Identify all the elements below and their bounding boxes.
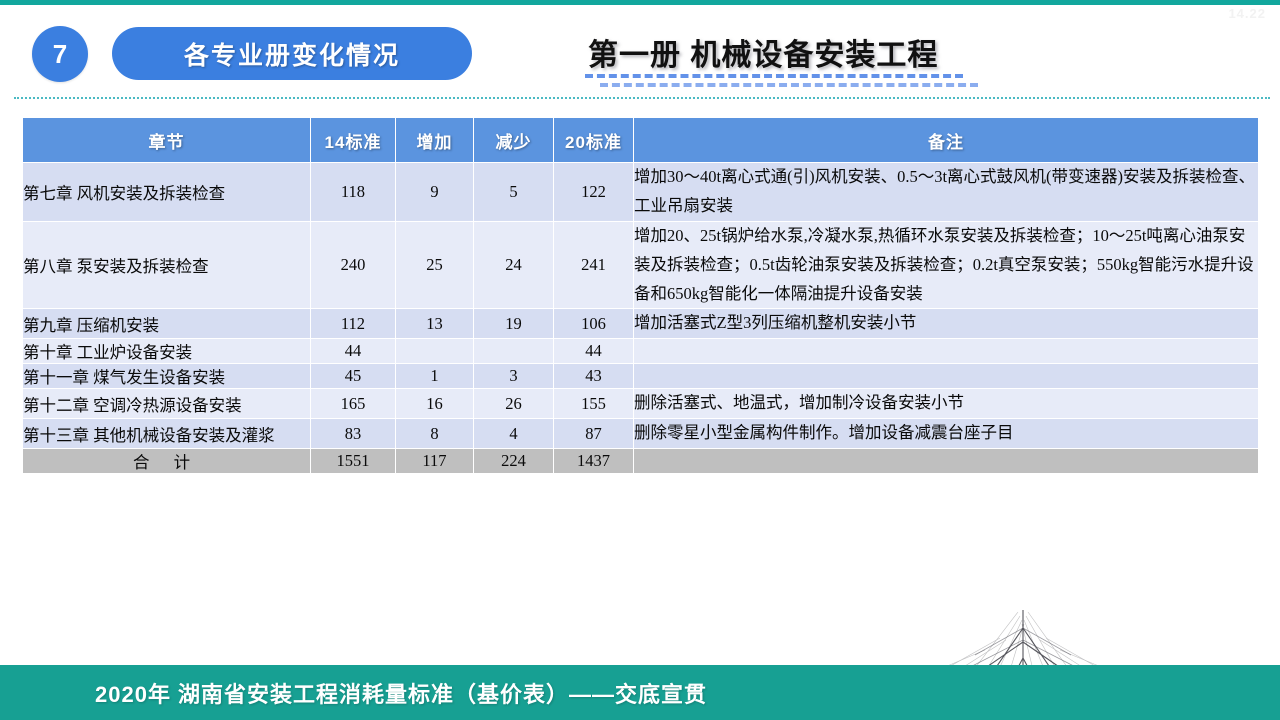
table-row: 第七章 风机安装及拆装检查 118 9 5 122 增加30～40t离心式通(引… — [23, 163, 1259, 222]
section-number-badge: 7 — [32, 26, 88, 82]
cell-std20: 87 — [554, 419, 634, 449]
column-header-note: 备注 — [634, 118, 1259, 163]
cell-total-std14: 1551 — [311, 449, 396, 474]
cell-std14: 165 — [311, 389, 396, 419]
cell-removed: 4 — [474, 419, 554, 449]
cell-std20: 106 — [554, 309, 634, 339]
cell-removed: 3 — [474, 364, 554, 389]
table-header-row: 章节 14标准 增加 减少 20标准 备注 — [23, 118, 1259, 163]
cell-note — [634, 364, 1259, 389]
table-row: 第十一章 煤气发生设备安装 45 1 3 43 — [23, 364, 1259, 389]
column-header-chapter: 章节 — [23, 118, 311, 163]
cell-chapter: 第十二章 空调冷热源设备安装 — [23, 389, 311, 419]
cell-total-added: 117 — [396, 449, 474, 474]
table-body: 第七章 风机安装及拆装检查 118 9 5 122 增加30～40t离心式通(引… — [23, 163, 1259, 474]
section-title-pill: 各专业册变化情况 — [112, 27, 472, 80]
cell-added: 1 — [396, 364, 474, 389]
cell-std14: 44 — [311, 339, 396, 364]
cell-std14: 118 — [311, 163, 396, 222]
chapter-change-table: 章节 14标准 增加 减少 20标准 备注 第七章 风机安装及拆装检查 118 … — [22, 117, 1259, 474]
cell-total-note — [634, 449, 1259, 474]
title-dash-line-lower — [600, 83, 978, 87]
cell-std20: 155 — [554, 389, 634, 419]
page-number-watermark: 14.22 — [1228, 6, 1266, 21]
column-header-removed: 减少 — [474, 118, 554, 163]
cell-note: 增加活塞式Z型3列压缩机整机安装小节 — [634, 309, 1259, 339]
cell-removed — [474, 339, 554, 364]
title-dash-line-upper — [585, 74, 963, 78]
cell-std14: 240 — [311, 221, 396, 309]
cell-total-removed: 224 — [474, 449, 554, 474]
slide-root: 14.22 7 各专业册变化情况 第一册 机械设备安装工程 章节 14标准 增加… — [0, 0, 1280, 720]
cell-std14: 112 — [311, 309, 396, 339]
table-row: 第十章 工业炉设备安装 44 44 — [23, 339, 1259, 364]
cell-std14: 45 — [311, 364, 396, 389]
table-row: 第九章 压缩机安装 112 13 19 106 增加活塞式Z型3列压缩机整机安装… — [23, 309, 1259, 339]
cell-removed: 24 — [474, 221, 554, 309]
cell-std20: 122 — [554, 163, 634, 222]
cell-chapter: 第八章 泵安装及拆装检查 — [23, 221, 311, 309]
cell-chapter: 第十三章 其他机械设备安装及灌浆 — [23, 419, 311, 449]
cell-total-label: 合 计 — [23, 449, 311, 474]
cell-std20: 43 — [554, 364, 634, 389]
column-header-std20: 20标准 — [554, 118, 634, 163]
cell-std20: 44 — [554, 339, 634, 364]
cell-total-std20: 1437 — [554, 449, 634, 474]
cell-added: 9 — [396, 163, 474, 222]
column-header-added: 增加 — [396, 118, 474, 163]
header-divider — [14, 97, 1270, 99]
table-header: 章节 14标准 增加 减少 20标准 备注 — [23, 118, 1259, 163]
section-number-label: 7 — [53, 39, 67, 70]
cell-note: 增加20、25t锅炉给水泵,冷凝水泵,热循环水泵安装及拆装检查；10～25t吨离… — [634, 221, 1259, 309]
cell-chapter: 第七章 风机安装及拆装检查 — [23, 163, 311, 222]
cell-removed: 26 — [474, 389, 554, 419]
cell-note: 增加30～40t离心式通(引)风机安装、0.5～3t离心式鼓风机(带变速器)安装… — [634, 163, 1259, 222]
footer-label: 2020年 湖南省安装工程消耗量标准（基价表）——交底宣贯 — [95, 677, 707, 709]
cell-added: 13 — [396, 309, 474, 339]
cell-added: 25 — [396, 221, 474, 309]
cell-removed: 19 — [474, 309, 554, 339]
cell-added: 8 — [396, 419, 474, 449]
cell-note: 删除零星小型金属构件制作。增加设备减震台座子目 — [634, 419, 1259, 449]
table-row: 第十二章 空调冷热源设备安装 165 16 26 155 删除活塞式、地温式，增… — [23, 389, 1259, 419]
page-title: 第一册 机械设备安装工程 — [588, 30, 938, 74]
cell-chapter: 第十章 工业炉设备安装 — [23, 339, 311, 364]
cell-chapter: 第十一章 煤气发生设备安装 — [23, 364, 311, 389]
table-row: 第八章 泵安装及拆装检查 240 25 24 241 增加20、25t锅炉给水泵… — [23, 221, 1259, 309]
cell-std20: 241 — [554, 221, 634, 309]
table-row: 第十三章 其他机械设备安装及灌浆 83 8 4 87 删除零星小型金属构件制作。… — [23, 419, 1259, 449]
top-accent-strip — [0, 0, 1280, 5]
cell-note: 删除活塞式、地温式，增加制冷设备安装小节 — [634, 389, 1259, 419]
section-title-label: 各专业册变化情况 — [184, 36, 400, 72]
cell-std14: 83 — [311, 419, 396, 449]
table-total-row: 合 计 1551 117 224 1437 — [23, 449, 1259, 474]
cell-chapter: 第九章 压缩机安装 — [23, 309, 311, 339]
cell-note — [634, 339, 1259, 364]
column-header-std14: 14标准 — [311, 118, 396, 163]
cell-removed: 5 — [474, 163, 554, 222]
slide-footer: 2020年 湖南省安装工程消耗量标准（基价表）——交底宣贯 — [0, 665, 1280, 720]
cell-added: 16 — [396, 389, 474, 419]
cell-added — [396, 339, 474, 364]
